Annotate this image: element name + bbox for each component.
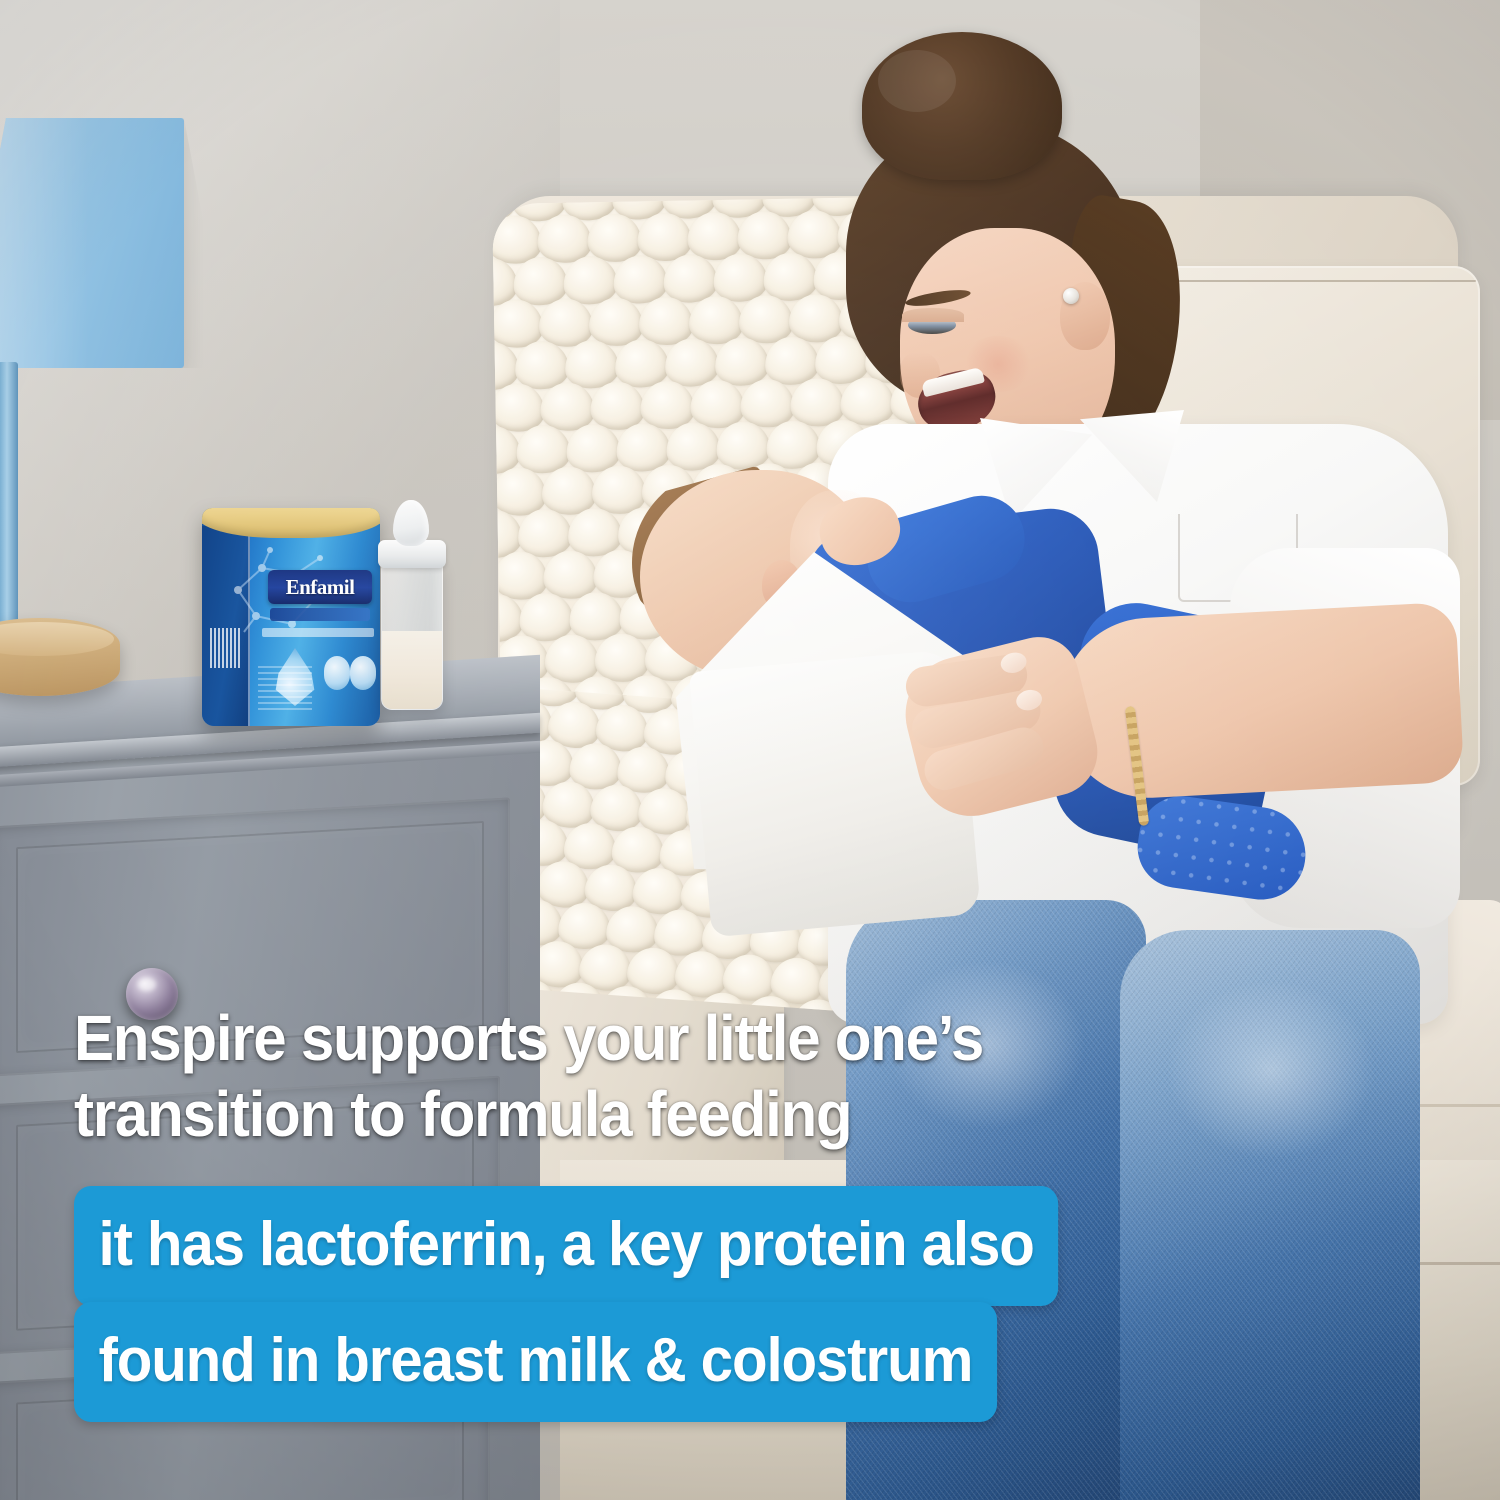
can-claim-band [262,628,374,637]
armchair-piping [1150,280,1476,282]
dresser-drawer-top[interactable] [0,797,510,1076]
lamp-shade [0,118,184,368]
enfamil-logo: Enfamil [268,570,372,604]
mother-forearm [1056,602,1465,803]
enfamil-formula-can[interactable]: Enfamil [202,508,380,726]
benefit-icon [324,656,350,690]
advertisement-image: Enfamil [0,0,1500,1500]
jeans-knee-highlight [1166,980,1376,1160]
baby-bottle[interactable] [381,560,443,710]
bottle-milk-fill [382,631,442,709]
drawer-panel [16,821,484,1053]
drawer-panel [16,1377,464,1500]
drawer-knob-icon[interactable] [126,968,178,1020]
can-fine-print [258,666,312,710]
brand-name: Enfamil [286,575,355,600]
dresser-drawer-middle[interactable] [0,1076,500,1355]
mother-eyelid [902,308,964,322]
lamp-stem [0,362,18,624]
drawer-panel [16,1099,474,1331]
benefit-icon [350,656,376,690]
pearl-earring-icon [1063,288,1079,304]
mother-jeans-left-leg [846,900,1146,1500]
jeans-knee-highlight [886,960,1086,1130]
lamp-wood-base [0,618,120,696]
mother-jeans-right-leg [1120,930,1420,1500]
can-subtitle-bar [270,608,370,621]
mother-hair-bun [862,32,1062,180]
can-lid[interactable] [202,508,380,538]
drawer-knob-icon[interactable] [120,1246,172,1298]
